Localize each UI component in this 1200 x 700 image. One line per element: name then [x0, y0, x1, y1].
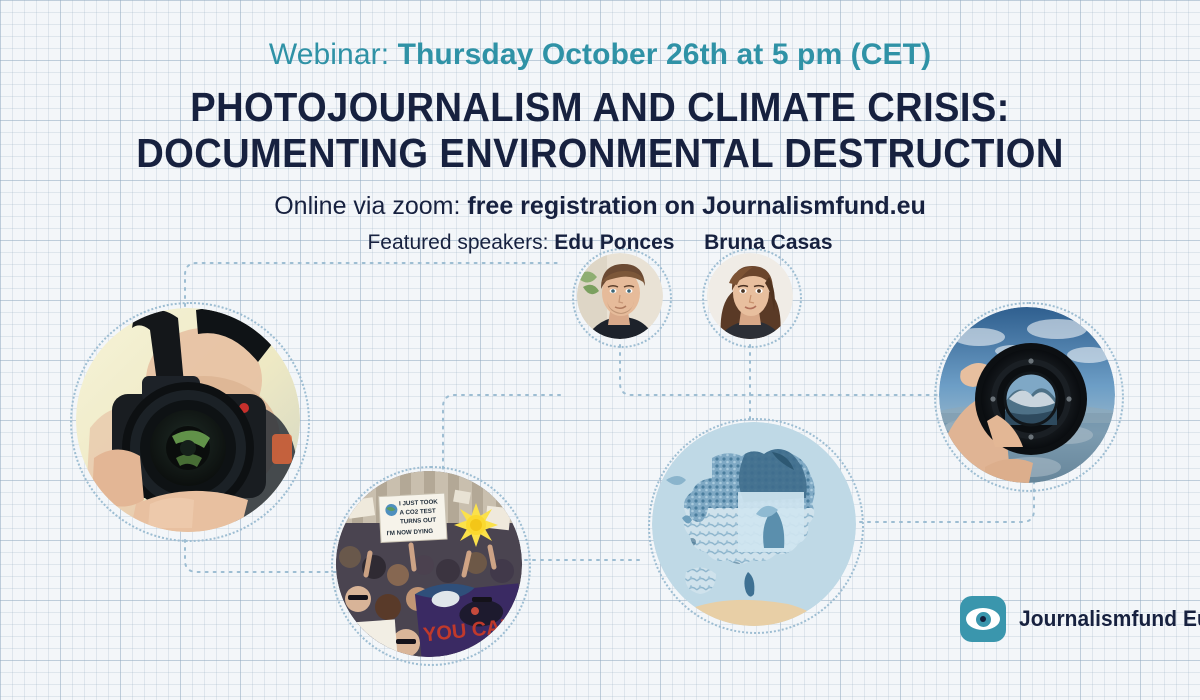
title-line-1: PHOTOJOURNALISM AND CLIMATE CRISIS: [42, 84, 1158, 130]
hand-holding-lens-photo [939, 307, 1115, 483]
journalismfund-logo[interactable]: Journalismfund Europe [960, 596, 1200, 642]
registration-line: Online via zoom: free registration on Jo… [0, 192, 1200, 221]
webinar-poster: Webinar: Thursday October 26th at 5 pm (… [0, 0, 1200, 700]
eye-shape [966, 608, 1000, 630]
page-title: PHOTOJOURNALISM AND CLIMATE CRISIS: DOCU… [42, 84, 1158, 176]
speaker-portrait-edu-ponces [577, 253, 663, 339]
registration-label: Online via zoom: [274, 192, 460, 220]
climate-protest-photo: I JUST TOOK A CO2 TEST TURNS OUT I'M NOW… [336, 471, 522, 657]
speaker-name-2: Bruna Casas [704, 231, 832, 254]
poster-header: Webinar: Thursday October 26th at 5 pm (… [0, 0, 1200, 255]
kicker-datetime: Thursday October 26th at 5 pm (CET) [398, 38, 932, 71]
connector-to-protest [443, 395, 560, 470]
journalismfund-eye-logo [960, 596, 1006, 642]
europe-map-collage [652, 422, 856, 626]
connector-bottom-left [185, 540, 340, 572]
kicker-label: Webinar: [269, 38, 389, 71]
speakers-line: Featured speakers: Edu Ponces Bruna Casa… [0, 230, 1200, 255]
title-line-2: DOCUMENTING ENVIRONMENTAL DESTRUCTION [42, 130, 1158, 176]
eye-pupil [980, 616, 986, 622]
registration-value[interactable]: free registration on Journalismfund.eu [467, 192, 925, 220]
speakers-label: Featured speakers: [367, 231, 548, 254]
eye-iris [976, 612, 991, 627]
speaker-portrait-bruna-casas [707, 253, 793, 339]
webinar-kicker: Webinar: Thursday October 26th at 5 pm (… [0, 38, 1200, 72]
photographer-with-camera-photo [76, 308, 300, 532]
logo-text: Journalismfund Europe [1019, 606, 1200, 632]
speaker-name-1: Edu Ponces [554, 231, 674, 254]
